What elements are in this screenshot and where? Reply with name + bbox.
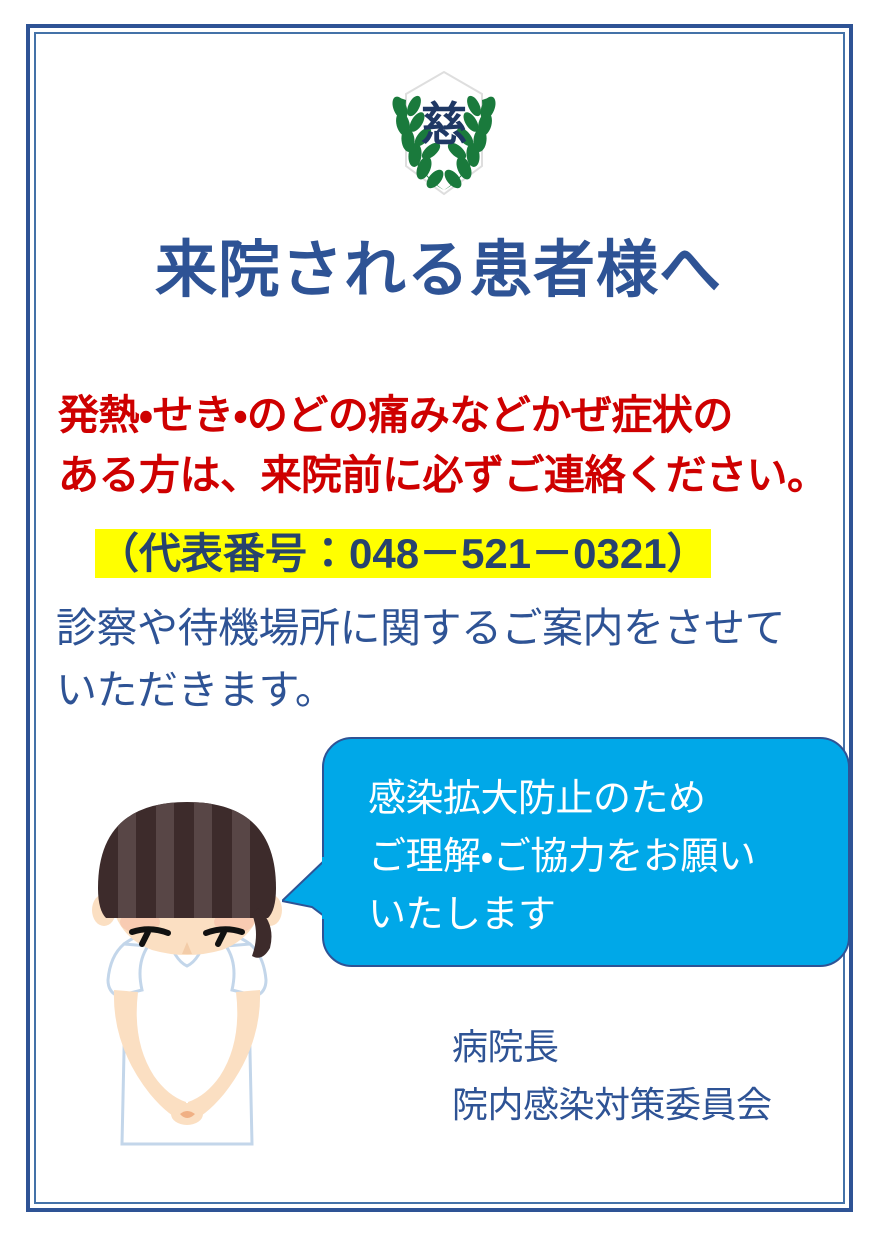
signature-line-2: 院内感染対策委員会 — [452, 1076, 772, 1134]
nurse-hair — [92, 794, 282, 924]
page-title: 来院される患者様へ — [0, 240, 877, 302]
bubble-line-2: ご理解・ご協力をお願い — [368, 829, 755, 887]
crest-character: 慈 — [421, 97, 467, 151]
bubble-line-3: いたします — [368, 887, 755, 945]
body-line-2: いただきます。 — [56, 660, 846, 722]
phone-number-highlight: （代表番号：048－521－0321） — [95, 529, 711, 578]
signature-block: 病院長 院内感染対策委員会 — [452, 1018, 772, 1135]
speech-bubble-text: 感染拡大防止のため ご理解・ご協力をお願い いたします — [368, 771, 755, 944]
hospital-crest-logo: 慈 — [384, 62, 504, 202]
speech-bubble-tail — [282, 857, 328, 919]
warning-text: 発熱・せき・のどの痛みなどかぜ症状の ある方は、来院前に必ずご連絡ください。 — [58, 386, 838, 506]
bubble-line-1: 感染拡大防止のため — [368, 771, 755, 829]
body-line-1: 診察や待機場所に関するご案内をさせて — [56, 598, 846, 660]
speech-bubble: 感染拡大防止のため ご理解・ご協力をお願い いたします — [322, 737, 850, 967]
warning-line-1: 発熱・せき・のどの痛みなどかぜ症状の — [58, 386, 838, 446]
body-text: 診察や待機場所に関するご案内をさせて いただきます。 — [56, 598, 846, 721]
poster-canvas: 慈 来院される患者様へ 発熱・せき・のどの痛みなどかぜ症状の ある方は、来院前に… — [0, 0, 877, 1240]
warning-line-2: ある方は、来院前に必ずご連絡ください。 — [58, 446, 838, 506]
signature-line-1: 病院長 — [452, 1018, 772, 1076]
bowing-nurse-illustration — [62, 784, 312, 1164]
phone-number-line: （代表番号：048－521－0321） — [95, 524, 711, 584]
